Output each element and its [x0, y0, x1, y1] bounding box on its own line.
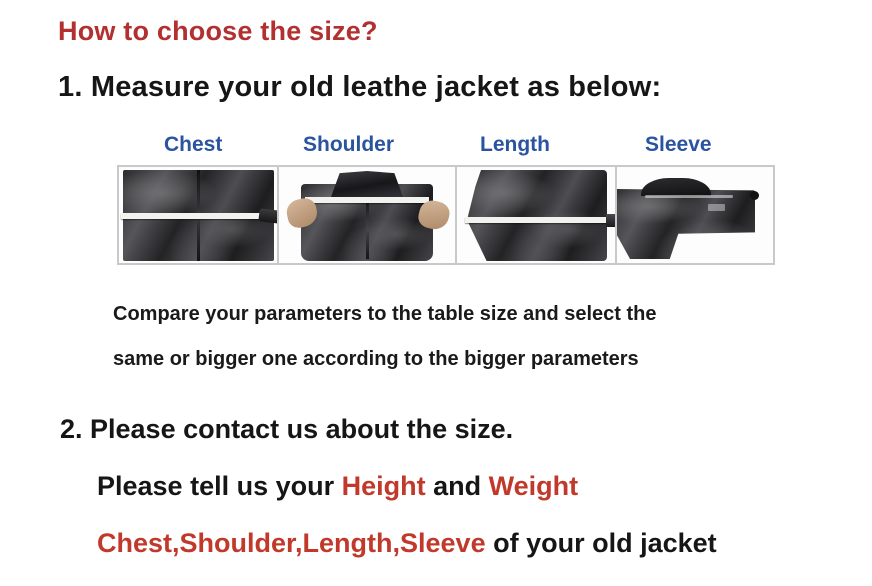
length-jacket-image: [467, 170, 607, 261]
sleeve-label-tag: [708, 204, 725, 211]
compare-note-line-2: same or bigger one according to the bigg…: [113, 337, 657, 382]
shoulder-tape-measure: [305, 197, 429, 203]
weight-highlight: Weight: [489, 471, 579, 501]
measurements-highlight: Chest,Shoulder,Length,Sleeve: [97, 528, 486, 558]
label-length: Length: [480, 133, 550, 157]
sleeve-jacket-image: [617, 189, 755, 259]
height-highlight: Height: [342, 471, 426, 501]
sleeve-photo: [617, 167, 773, 263]
step-two-heading: 2. Please contact us about the size.: [60, 414, 513, 445]
height-weight-middle: and: [426, 471, 489, 501]
measurements-line: Chest,Shoulder,Length,Sleeve of your old…: [97, 528, 717, 559]
size-guide-page: How to choose the size? 1. Measure your …: [0, 0, 872, 586]
compare-note-line-1: Compare your parameters to the table siz…: [113, 292, 657, 337]
measurement-labels: Chest Shoulder Length Sleeve: [117, 133, 775, 165]
label-sleeve: Sleeve: [645, 133, 712, 157]
chest-photo: [119, 167, 279, 263]
measurement-figure: Chest Shoulder Length Sleeve: [117, 133, 775, 265]
chest-tape-measure: [121, 213, 278, 219]
step-one-heading: 1. Measure your old leathe jacket as bel…: [58, 71, 661, 104]
shoulder-zipper-seam: [366, 200, 369, 259]
sleeve-cuff-button: [750, 191, 759, 200]
measurements-suffix: of your old jacket: [486, 528, 717, 558]
page-title: How to choose the size?: [58, 16, 378, 47]
label-chest: Chest: [164, 133, 222, 157]
measurement-photo-strip: [117, 165, 775, 265]
label-shoulder: Shoulder: [303, 133, 394, 157]
sleeve-shoulder-curve: [641, 178, 711, 196]
length-tape-handle: [606, 214, 617, 227]
height-weight-line: Please tell us your Height and Weight: [97, 471, 578, 502]
length-photo: [457, 167, 617, 263]
length-tape-measure: [465, 217, 613, 223]
sleeve-tape-measure: [645, 195, 733, 198]
compare-note: Compare your parameters to the table siz…: [113, 292, 657, 382]
shoulder-collar: [331, 171, 403, 197]
height-weight-prefix: Please tell us your: [97, 471, 342, 501]
shoulder-photo: [279, 167, 457, 263]
